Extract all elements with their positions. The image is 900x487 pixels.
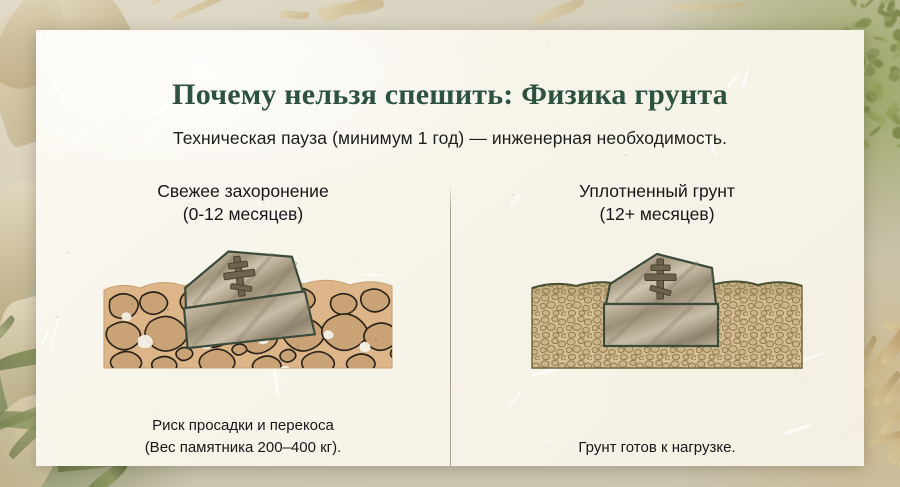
illustration-fresh-burial <box>36 228 450 418</box>
monument-tilted <box>175 241 315 352</box>
column-heading-line1: Свежее захоронение <box>157 181 328 201</box>
column-heading-compacted-soil: Уплотненный грунт (12+ месяцев) <box>450 180 864 226</box>
column-heading-fresh-burial: Свежее захоронение (0-12 месяцев) <box>36 180 450 226</box>
illustration-compacted-soil <box>450 228 864 418</box>
column-heading-line1: Уплотненный грунт <box>579 181 735 201</box>
column-caption-line1: Грунт готов к нагрузке. <box>578 439 735 456</box>
column-caption-line1: Риск просадки и перекоса <box>152 417 334 434</box>
column-caption-line2: (Вес памятника 200–400 кг). <box>36 437 450 458</box>
infographic-card: Почему нельзя спешить: Физика грунта Тех… <box>36 30 864 466</box>
column-heading-line2: (0-12 месяцев) <box>36 203 450 226</box>
page-title: Почему нельзя спешить: Физика грунта <box>36 78 864 112</box>
column-caption-fresh-burial: Риск просадки и перекоса (Вес памятника … <box>36 415 450 458</box>
page-subtitle: Техническая пауза (минимум 1 год) — инже… <box>36 128 864 149</box>
column-compacted-soil: Уплотненный грунт (12+ месяцев) <box>450 170 864 466</box>
column-heading-line2: (12+ месяцев) <box>450 203 864 226</box>
monument-level <box>604 254 718 346</box>
column-caption-compacted-soil: Грунт готов к нагрузке. <box>450 437 864 458</box>
column-fresh-burial: Свежее захоронение (0-12 месяцев) <box>36 170 450 466</box>
